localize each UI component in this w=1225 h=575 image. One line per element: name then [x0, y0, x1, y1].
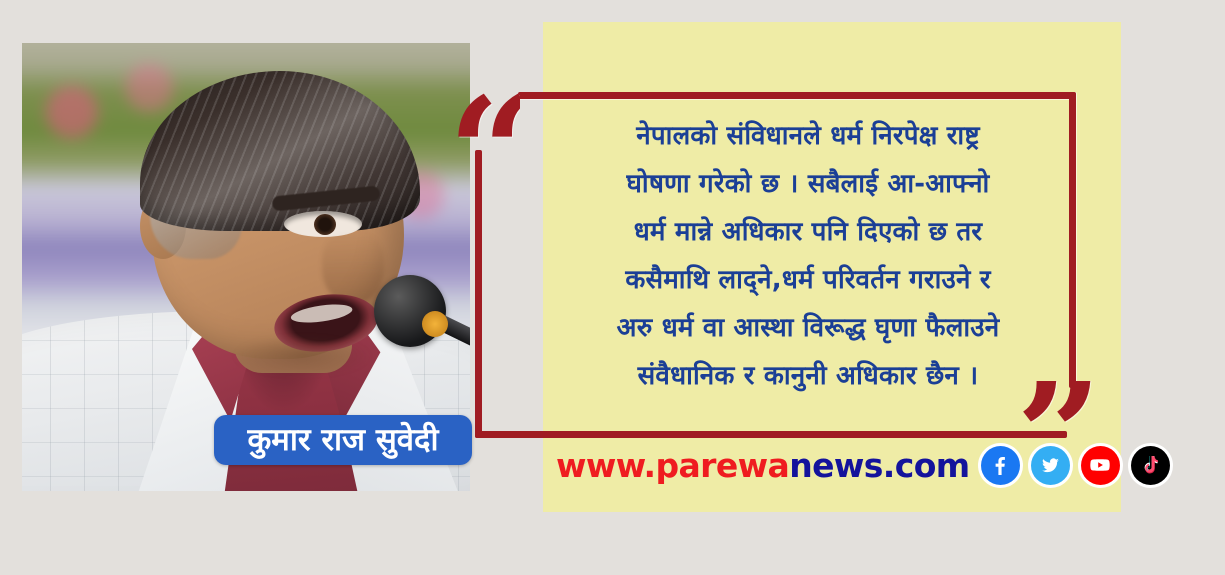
speaker-nametag: कुमार राज सुवेदी — [214, 415, 472, 465]
microphone-ring — [422, 311, 448, 337]
frame-border-left — [475, 150, 482, 438]
speaker-name: कुमार राज सुवेदी — [247, 425, 438, 456]
twitter-icon[interactable] — [1031, 446, 1070, 485]
url-part-domain: news.com — [789, 446, 969, 485]
quote-line: धर्म मान्ने अधिकार पनि दिएको छ तर — [552, 208, 1064, 256]
youtube-icon[interactable] — [1081, 446, 1120, 485]
frame-border-right — [1069, 92, 1076, 388]
facebook-icon[interactable] — [981, 446, 1020, 485]
quote-line: अरु धर्म वा आस्था विरूद्ध घृणा फैलाउने — [552, 304, 1064, 352]
footer: www.parewanews.com — [556, 443, 1170, 487]
quote-card: nal h haripur Pr कुमार राज सुवेदी “ ” ने… — [0, 0, 1225, 575]
quote-line: नेपालको संविधानले धर्म निरपेक्ष राष्ट्र — [552, 112, 1064, 160]
url-part-brand: www.parewa — [556, 446, 789, 485]
quote-text: नेपालको संविधानले धर्म निरपेक्ष राष्ट्र … — [552, 112, 1064, 400]
chin-shadow — [232, 335, 372, 377]
frame-border-bottom — [475, 431, 1067, 438]
quote-line: घोषणा गरेको छ । सबैलाई आ-आफ्नो — [552, 160, 1064, 208]
quote-line: संवैधानिक र कानुनी अधिकार छैन । — [552, 352, 1064, 400]
frame-border-top — [518, 92, 1076, 99]
website-url[interactable]: www.parewanews.com — [556, 446, 970, 485]
quote-open-mark: “ — [448, 78, 520, 152]
quote-line: कसैमाथि लाद्ने,धर्म परिवर्तन गराउने र — [552, 256, 1064, 304]
tiktok-icon[interactable] — [1131, 446, 1170, 485]
